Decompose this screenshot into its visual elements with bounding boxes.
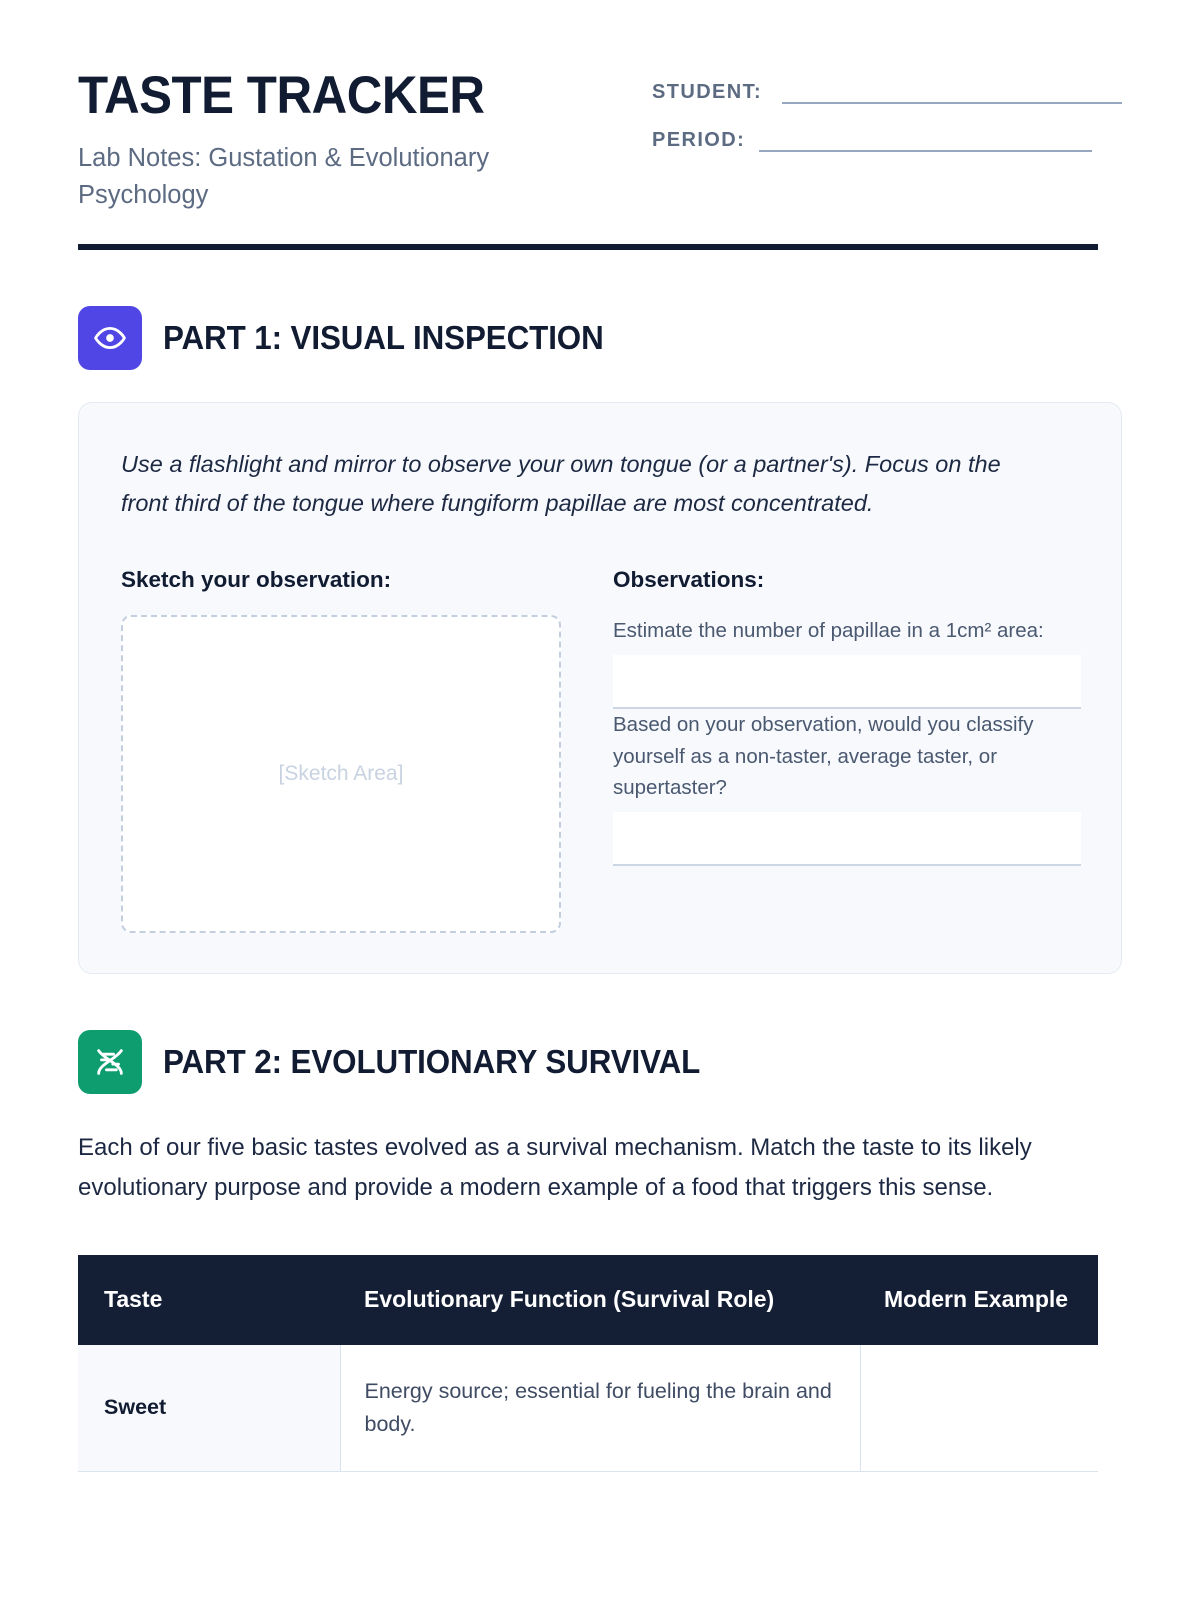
observations-column: Observations: Estimate the number of pap… <box>613 567 1081 933</box>
part2-heading-row: PART 2: EVOLUTIONARY SURVIVAL <box>78 1030 1122 1094</box>
taste-table-head: Taste Evolutionary Function (Survival Ro… <box>78 1255 1098 1344</box>
student-info-block: STUDENT: PERIOD: <box>652 68 1122 178</box>
column-header-taste: Taste <box>78 1255 340 1344</box>
question-1-answer-field[interactable] <box>613 655 1081 709</box>
sketch-input-area[interactable]: [Sketch Area] <box>121 615 561 933</box>
question-2-answer-field[interactable] <box>613 812 1081 866</box>
cell-function: Energy source; essential for fueling the… <box>340 1345 860 1472</box>
period-input[interactable] <box>759 130 1092 152</box>
title-block: TASTE TRACKER Lab Notes: Gustation & Evo… <box>78 68 598 214</box>
student-input[interactable] <box>782 82 1122 104</box>
part2-paragraph: Each of our five basic tastes evolved as… <box>78 1128 1098 1207</box>
period-field-row: PERIOD: <box>652 130 1122 152</box>
part1-title: PART 1: VISUAL INSPECTION <box>163 319 604 357</box>
question-2-prompt: Based on your observation, would you cla… <box>613 709 1081 804</box>
taste-table-body: Sweet Energy source; essential for fueli… <box>78 1345 1098 1472</box>
sketch-label: Sketch your observation: <box>121 567 561 593</box>
header-divider <box>78 244 1098 250</box>
cell-modern-example[interactable] <box>860 1345 1098 1472</box>
period-label: PERIOD: <box>652 130 745 152</box>
column-header-function: Evolutionary Function (Survival Role) <box>340 1255 860 1344</box>
part1-heading-row: PART 1: VISUAL INSPECTION <box>78 306 1122 370</box>
dna-icon <box>78 1030 142 1094</box>
part1-instruction: Use a flashlight and mirror to observe y… <box>121 445 1021 523</box>
worksheet-header: TASTE TRACKER Lab Notes: Gustation & Evo… <box>78 0 1122 214</box>
sketch-column: Sketch your observation: [Sketch Area] <box>121 567 561 933</box>
part1-columns: Sketch your observation: [Sketch Area] O… <box>121 567 1081 933</box>
question-1-prompt: Estimate the number of papillae in a 1cm… <box>613 615 1081 647</box>
observations-label: Observations: <box>613 567 1081 593</box>
taste-table-wrapper: Taste Evolutionary Function (Survival Ro… <box>78 1255 1122 1472</box>
taste-table-header-row: Taste Evolutionary Function (Survival Ro… <box>78 1255 1098 1344</box>
student-label: STUDENT: <box>652 82 762 104</box>
observation-question-2: Based on your observation, would you cla… <box>613 709 1081 866</box>
sketch-placeholder-text: [Sketch Area] <box>279 762 404 786</box>
part1-card: Use a flashlight and mirror to observe y… <box>78 402 1122 974</box>
taste-table: Taste Evolutionary Function (Survival Ro… <box>78 1255 1098 1472</box>
table-row: Sweet Energy source; essential for fueli… <box>78 1345 1098 1472</box>
student-field-row: STUDENT: <box>652 82 1122 104</box>
eye-icon <box>78 306 142 370</box>
worksheet-page: TASTE TRACKER Lab Notes: Gustation & Evo… <box>0 0 1200 1600</box>
observation-question-1: Estimate the number of papillae in a 1cm… <box>613 615 1081 709</box>
page-subtitle: Lab Notes: Gustation & Evolutionary Psyc… <box>78 140 588 214</box>
cell-taste: Sweet <box>78 1345 340 1472</box>
column-header-example: Modern Example <box>860 1255 1098 1344</box>
page-title: TASTE TRACKER <box>78 68 562 124</box>
part2-title: PART 2: EVOLUTIONARY SURVIVAL <box>163 1043 700 1081</box>
